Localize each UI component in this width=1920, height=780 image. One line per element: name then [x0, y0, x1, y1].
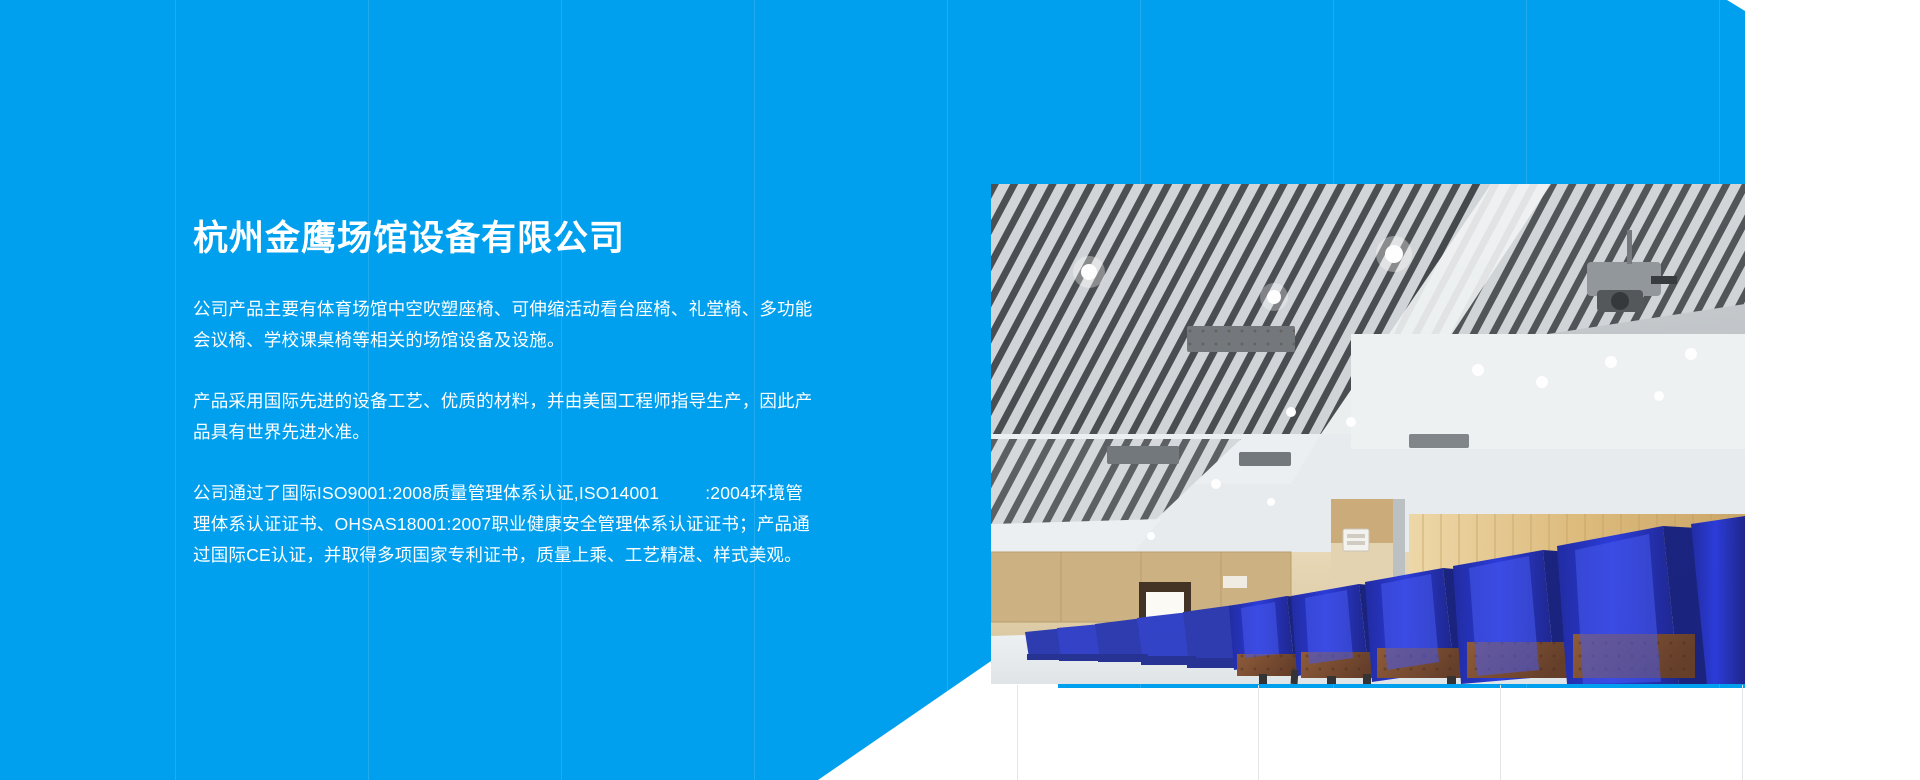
promo-banner: 杭州金鹰场馆设备有限公司 公司产品主要有体育场馆中空吹塑座椅、可伸缩活动看台座椅… — [0, 0, 1920, 780]
intro-paragraph-3-part-a: 公司通过了国际ISO9001:2008质量管理体系认证,ISO14001 — [193, 483, 659, 503]
intro-paragraph-1: 公司产品主要有体育场馆中空吹塑座椅、可伸缩活动看台座椅、礼堂椅、多功能会议椅、学… — [193, 294, 813, 356]
intro-paragraph-3: 公司通过了国际ISO9001:2008质量管理体系认证,ISO14001:200… — [193, 478, 813, 571]
auditorium-photo — [991, 184, 1745, 684]
page-title: 杭州金鹰场馆设备有限公司 — [193, 218, 813, 260]
intro-copy-block: 杭州金鹰场馆设备有限公司 公司产品主要有体育场馆中空吹塑座椅、可伸缩活动看台座椅… — [193, 218, 813, 571]
intro-paragraph-2: 产品采用国际先进的设备工艺、优质的材料，并由美国工程师指导生产，因此产品具有世界… — [193, 386, 813, 448]
